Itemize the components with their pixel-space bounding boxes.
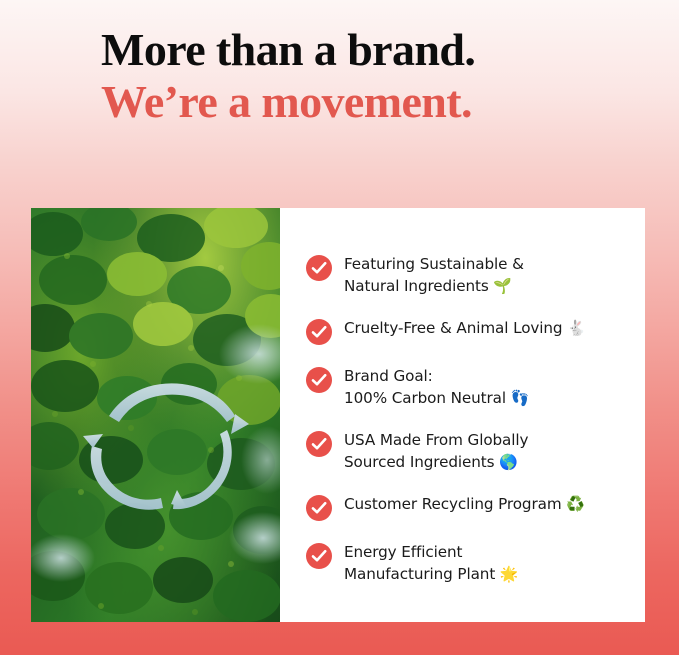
check-circle-icon — [306, 431, 332, 457]
feature-line: Natural Ingredients — [344, 277, 489, 295]
headline-line-1: More than a brand. — [101, 24, 621, 76]
list-item: Cruelty-Free & Animal Loving 🐇 — [306, 318, 627, 345]
feature-label-2: Cruelty-Free & Animal Loving 🐇 — [344, 318, 586, 340]
recycling-emoji: ♻️ — [566, 495, 585, 513]
feature-label-4: USA Made From Globally Sourced Ingredien… — [344, 430, 528, 473]
feature-line: Brand Goal: — [344, 367, 433, 385]
feature-label-6: Energy Efficient Manufacturing Plant 🌟 — [344, 542, 518, 585]
check-circle-icon — [306, 319, 332, 345]
forest-illustration — [31, 208, 280, 622]
check-circle-icon — [306, 255, 332, 281]
seedling-emoji: 🌱 — [493, 277, 512, 295]
rabbit-emoji: 🐇 — [567, 319, 586, 337]
feature-line: Cruelty-Free & Animal Loving — [344, 319, 562, 337]
page-headline: More than a brand. We’re a movement. — [101, 24, 621, 127]
list-item: Featuring Sustainable & Natural Ingredie… — [306, 254, 627, 297]
feature-line: Customer Recycling Program — [344, 495, 562, 513]
list-item: Customer Recycling Program ♻️ — [306, 494, 627, 521]
list-item: USA Made From Globally Sourced Ingredien… — [306, 430, 627, 473]
list-item: Brand Goal: 100% Carbon Neutral 👣 — [306, 366, 627, 409]
feature-line: Featuring Sustainable & — [344, 255, 524, 273]
headline-line-2: We’re a movement. — [101, 76, 621, 128]
check-circle-icon — [306, 543, 332, 569]
feature-label-1: Featuring Sustainable & Natural Ingredie… — [344, 254, 524, 297]
brand-values-card: Featuring Sustainable & Natural Ingredie… — [31, 208, 645, 622]
aerial-forest-photo — [31, 208, 280, 622]
feature-label-3: Brand Goal: 100% Carbon Neutral 👣 — [344, 366, 529, 409]
list-item: Energy Efficient Manufacturing Plant 🌟 — [306, 542, 627, 585]
feature-label-5: Customer Recycling Program ♻️ — [344, 494, 585, 516]
feature-list: Featuring Sustainable & Natural Ingredie… — [280, 208, 645, 622]
globe-emoji: 🌎 — [499, 453, 518, 471]
feature-line: 100% Carbon Neutral — [344, 389, 506, 407]
glowing-star-emoji: 🌟 — [500, 565, 519, 583]
feature-line: Energy Efficient — [344, 543, 462, 561]
footprints-emoji: 👣 — [511, 389, 530, 407]
feature-line: USA Made From Globally — [344, 431, 528, 449]
feature-line: Manufacturing Plant — [344, 565, 495, 583]
check-circle-icon — [306, 495, 332, 521]
feature-line: Sourced Ingredients — [344, 453, 494, 471]
check-circle-icon — [306, 367, 332, 393]
